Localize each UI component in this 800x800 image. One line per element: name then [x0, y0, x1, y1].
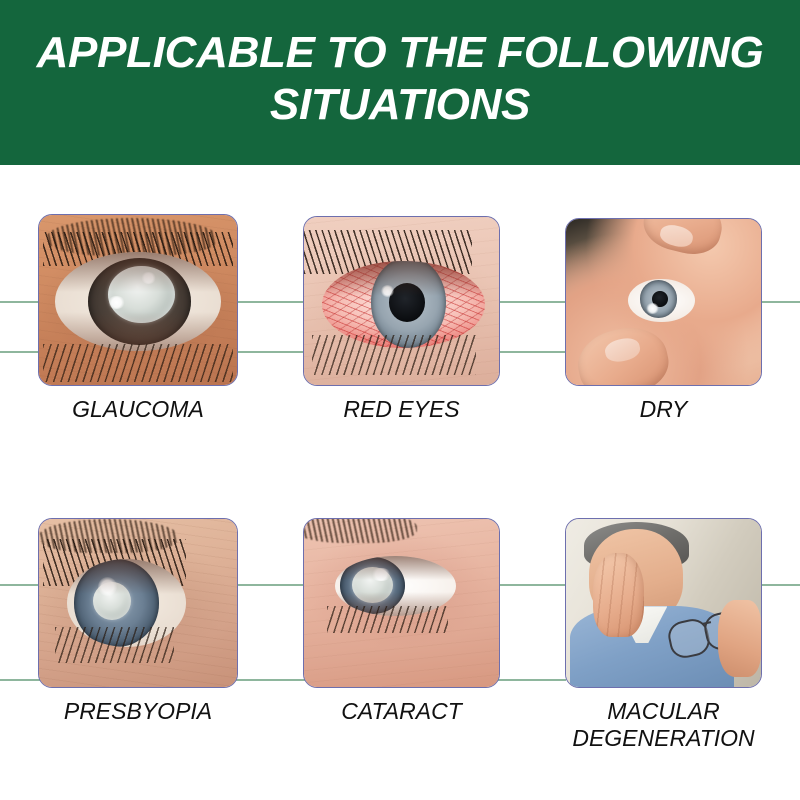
caption-cataract: CATARACT — [252, 698, 552, 725]
situation-card-cataract[interactable]: CATARACT — [303, 518, 500, 688]
card-image-red-eyes — [303, 216, 500, 386]
presbyopia-eye-photo — [39, 519, 237, 687]
situation-card-dry[interactable]: DRY — [565, 218, 762, 386]
caption-presbyopia: PRESBYOPIA — [0, 698, 288, 725]
header-banner: APPLICABLE TO THE FOLLOWING SITUATIONS — [0, 0, 800, 165]
red-eyes-photo — [304, 217, 499, 385]
dry-eye-photo — [566, 219, 761, 385]
macular-degeneration-photo — [566, 519, 761, 687]
glaucoma-eye-photo — [39, 215, 237, 385]
card-image-presbyopia — [38, 518, 238, 688]
caption-glaucoma: GLAUCOMA — [0, 396, 288, 423]
caption-macular-degeneration: MACULAR DEGENERATION — [514, 698, 800, 752]
situation-card-macular-degeneration[interactable]: MACULAR DEGENERATION — [565, 518, 762, 688]
poster: APPLICABLE TO THE FOLLOWING SITUATIONS — [0, 0, 800, 800]
situation-card-glaucoma[interactable]: GLAUCOMA — [38, 214, 238, 386]
situations-grid: GLAUCOMA RED EY — [0, 165, 800, 800]
cataract-eye-photo — [304, 519, 499, 687]
card-image-macular-degeneration — [565, 518, 762, 688]
page-title: APPLICABLE TO THE FOLLOWING SITUATIONS — [37, 27, 764, 129]
card-image-dry — [565, 218, 762, 386]
caption-dry: DRY — [514, 396, 800, 423]
card-image-glaucoma — [38, 214, 238, 386]
situation-card-presbyopia[interactable]: PRESBYOPIA — [38, 518, 238, 688]
situation-card-red-eyes[interactable]: RED EYES — [303, 216, 500, 386]
card-image-cataract — [303, 518, 500, 688]
caption-red-eyes: RED EYES — [252, 396, 552, 423]
